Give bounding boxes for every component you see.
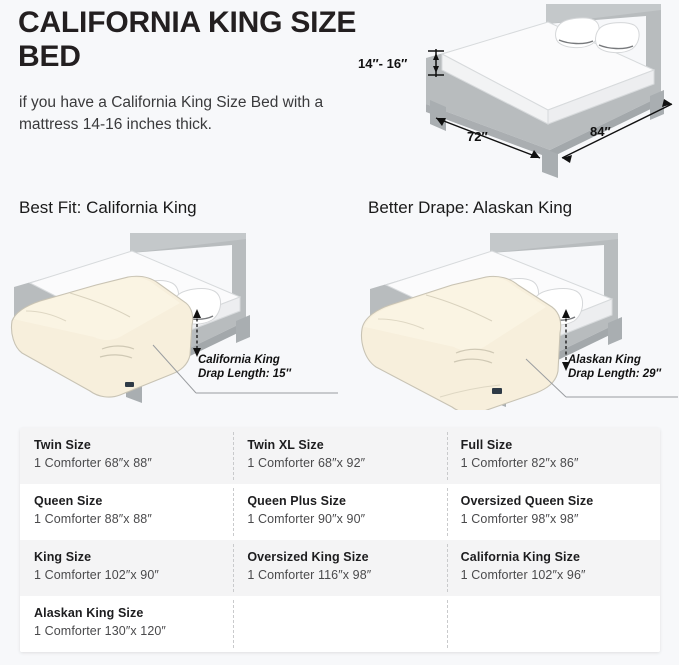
cell-title: Full Size <box>461 437 660 454</box>
cell-subtitle: 1 Comforter 88″x 88″ <box>34 510 233 528</box>
table-row: Alaskan King Size 1 Comforter 130″x 120″ <box>20 596 660 652</box>
cell-title: Twin XL Size <box>247 437 446 454</box>
table-cell: California King Size 1 Comforter 102″x 9… <box>447 540 660 596</box>
section-title-best-fit: Best Fit: California King <box>19 198 197 218</box>
cell-subtitle: 1 Comforter 116″x 98″ <box>247 566 446 584</box>
cell-title: Twin Size <box>34 437 233 454</box>
table-cell: Full Size 1 Comforter 82″x 86″ <box>447 428 660 484</box>
drape-label-line1: California King <box>198 354 280 366</box>
page-subtitle: if you have a California King Size Bed w… <box>19 92 339 136</box>
cell-subtitle: 1 Comforter 90″x 90″ <box>247 510 446 528</box>
cell-subtitle: 1 Comforter 68″x 88″ <box>34 454 233 472</box>
alaskan-king-drape-diagram: Alaskan King Drap Length: 29″ <box>340 225 679 410</box>
width-label: 72″ <box>467 129 488 144</box>
table-row: King Size 1 Comforter 102″x 90″ Oversize… <box>20 540 660 596</box>
table-row: Twin Size 1 Comforter 68″x 88″ Twin XL S… <box>20 428 660 484</box>
cell-title: California King Size <box>461 549 660 566</box>
cell-title: Alaskan King Size <box>34 605 233 622</box>
cell-title: Oversized King Size <box>247 549 446 566</box>
table-cell <box>233 596 446 652</box>
comforter-size-table: Twin Size 1 Comforter 68″x 88″ Twin XL S… <box>20 428 660 652</box>
hero-bed-diagram: 14″- 16″ 72″ 84″ <box>350 0 679 180</box>
thickness-label: 14″- 16″ <box>358 56 407 71</box>
cell-title: Oversized Queen Size <box>461 493 660 510</box>
cell-title: King Size <box>34 549 233 566</box>
table-cell: Oversized King Size 1 Comforter 116″x 98… <box>233 540 446 596</box>
california-king-drape-diagram: California King Drap Length: 15″ <box>0 225 339 410</box>
cell-title: Queen Plus Size <box>247 493 446 510</box>
infographic-canvas: CALIFORNIA KING SIZE BED if you have a C… <box>0 0 679 665</box>
cell-subtitle: 1 Comforter 130″x 120″ <box>34 622 233 640</box>
cell-subtitle: 1 Comforter 82″x 86″ <box>461 454 660 472</box>
cell-subtitle: 1 Comforter 68″x 92″ <box>247 454 446 472</box>
section-title-better-drape: Better Drape: Alaskan King <box>368 198 572 218</box>
table-cell: Oversized Queen Size 1 Comforter 98″x 98… <box>447 484 660 540</box>
table-cell: Queen Size 1 Comforter 88″x 88″ <box>20 484 233 540</box>
table-cell: Twin Size 1 Comforter 68″x 88″ <box>20 428 233 484</box>
drape-label-line1: Alaskan King <box>567 354 641 366</box>
table-cell: King Size 1 Comforter 102″x 90″ <box>20 540 233 596</box>
drape-label-line2: Drap Length: 15″ <box>198 368 292 380</box>
cell-title: Queen Size <box>34 493 233 510</box>
table-row: Queen Size 1 Comforter 88″x 88″ Queen Pl… <box>20 484 660 540</box>
length-label: 84″ <box>590 124 611 139</box>
table-cell: Queen Plus Size 1 Comforter 90″x 90″ <box>233 484 446 540</box>
cell-subtitle: 1 Comforter 102″x 96″ <box>461 566 660 584</box>
cell-subtitle: 1 Comforter 102″x 90″ <box>34 566 233 584</box>
cell-subtitle: 1 Comforter 98″x 98″ <box>461 510 660 528</box>
table-cell: Alaskan King Size 1 Comforter 130″x 120″ <box>20 596 233 652</box>
page-title: CALIFORNIA KING SIZE BED <box>18 6 358 74</box>
table-cell: Twin XL Size 1 Comforter 68″x 92″ <box>233 428 446 484</box>
drape-label-line2: Drap Length: 29″ <box>568 368 662 380</box>
table-cell <box>447 596 660 652</box>
